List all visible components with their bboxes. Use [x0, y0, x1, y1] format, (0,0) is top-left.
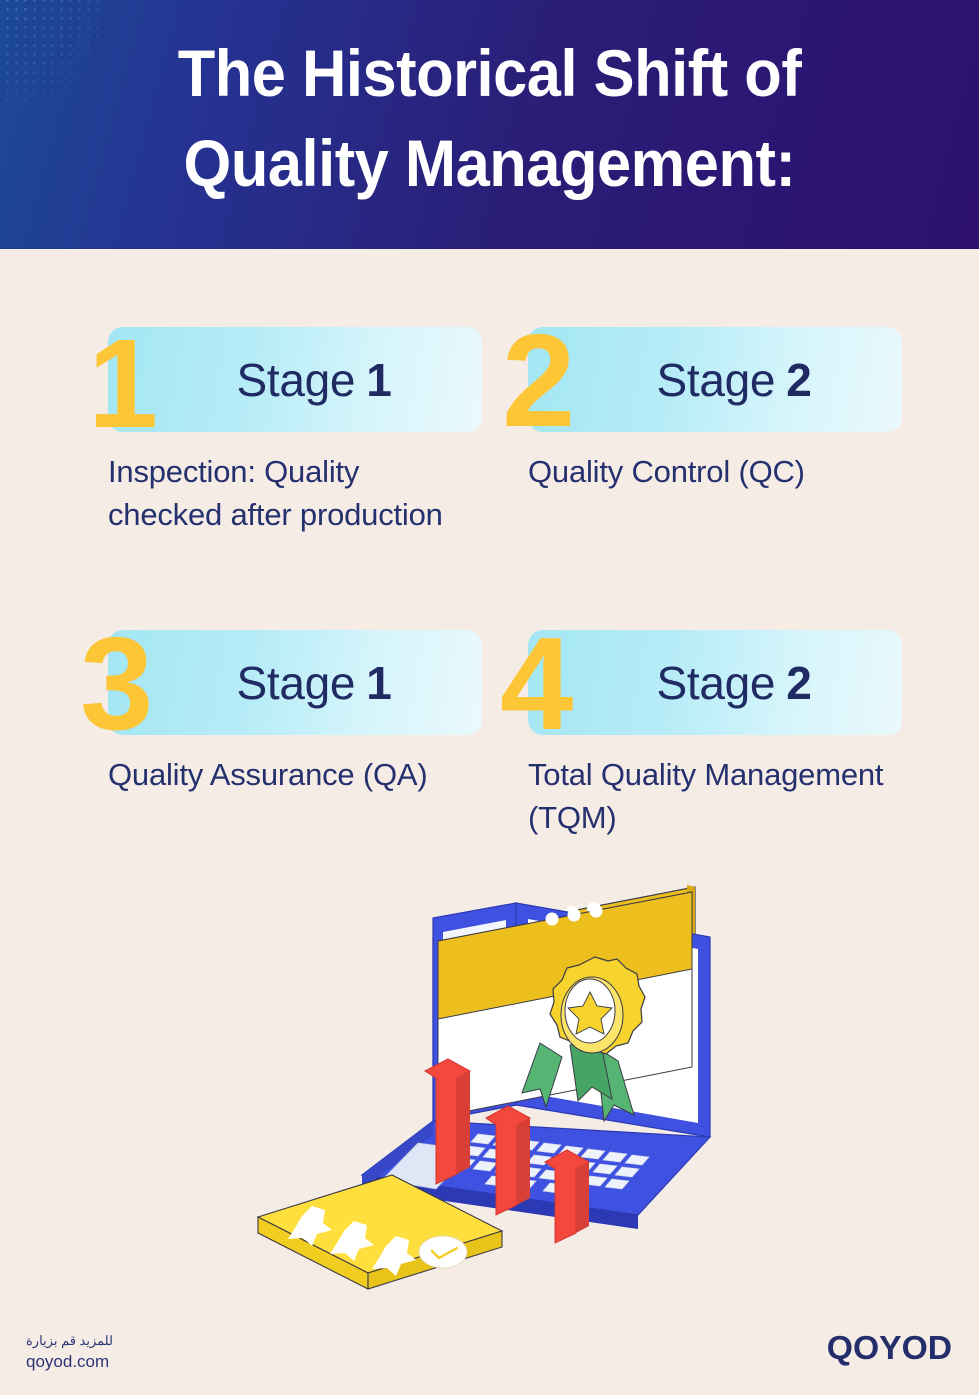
stage-pill-value-3: 1: [366, 656, 391, 710]
stage-description-4: Total Quality Management (TQM): [500, 754, 900, 840]
stage-card-2: 2 Stage2 Quality Control (QC): [500, 327, 920, 494]
stage-pill-value-1: 1: [366, 353, 391, 407]
stage-pill-prefix-2: Stage: [656, 353, 775, 407]
stage-pill-value-2: 2: [786, 353, 811, 407]
page-title: The Historical Shift of Quality Manageme…: [34, 28, 944, 209]
stage-card-1: 1 Stage1 Inspection: Quality checked aft…: [80, 327, 500, 537]
stages-grid: 1 Stage1 Inspection: Quality checked aft…: [0, 249, 979, 889]
stage-card-3: 3 Stage1 Quality Assurance (QA): [80, 630, 500, 797]
stage-description-3: Quality Assurance (QA): [80, 754, 480, 797]
stage-pill-prefix-3: Stage: [236, 656, 355, 710]
stage-pill-label-4: Stage2: [528, 630, 902, 735]
stage-pill-prefix-1: Stage: [236, 353, 355, 407]
footer-arabic-text: للمزيد قم بزيارة: [26, 1332, 113, 1349]
stage-pill-wrap-2: 2 Stage2: [500, 327, 920, 437]
stage-description-2: Quality Control (QC): [500, 451, 900, 494]
stage-pill-label-3: Stage1: [108, 630, 482, 735]
stage-pill-wrap-1: 1 Stage1: [80, 327, 500, 437]
stage-description-1: Inspection: Quality checked after produc…: [80, 451, 480, 537]
page-header: The Historical Shift of Quality Manageme…: [0, 0, 979, 249]
stage-pill-prefix-4: Stage: [656, 656, 775, 710]
laptop-award-illustration: [240, 875, 730, 1320]
stage-card-4: 4 Stage2 Total Quality Management (TQM): [500, 630, 920, 840]
footer-visit-block: للمزيد قم بزيارة qoyod.com: [26, 1332, 113, 1373]
stage-pill-wrap-4: 4 Stage2: [500, 630, 920, 740]
stage-pill-value-4: 2: [786, 656, 811, 710]
stage-pill-wrap-3: 3 Stage1: [80, 630, 500, 740]
footer-url[interactable]: qoyod.com: [26, 1351, 113, 1373]
stage-pill-label-1: Stage1: [108, 327, 482, 432]
stage-pill-label-2: Stage2: [528, 327, 902, 432]
page-footer: للمزيد قم بزيارة qoyod.com QOYOD: [0, 1300, 979, 1395]
qoyod-logo: QOYOD: [827, 1329, 952, 1367]
